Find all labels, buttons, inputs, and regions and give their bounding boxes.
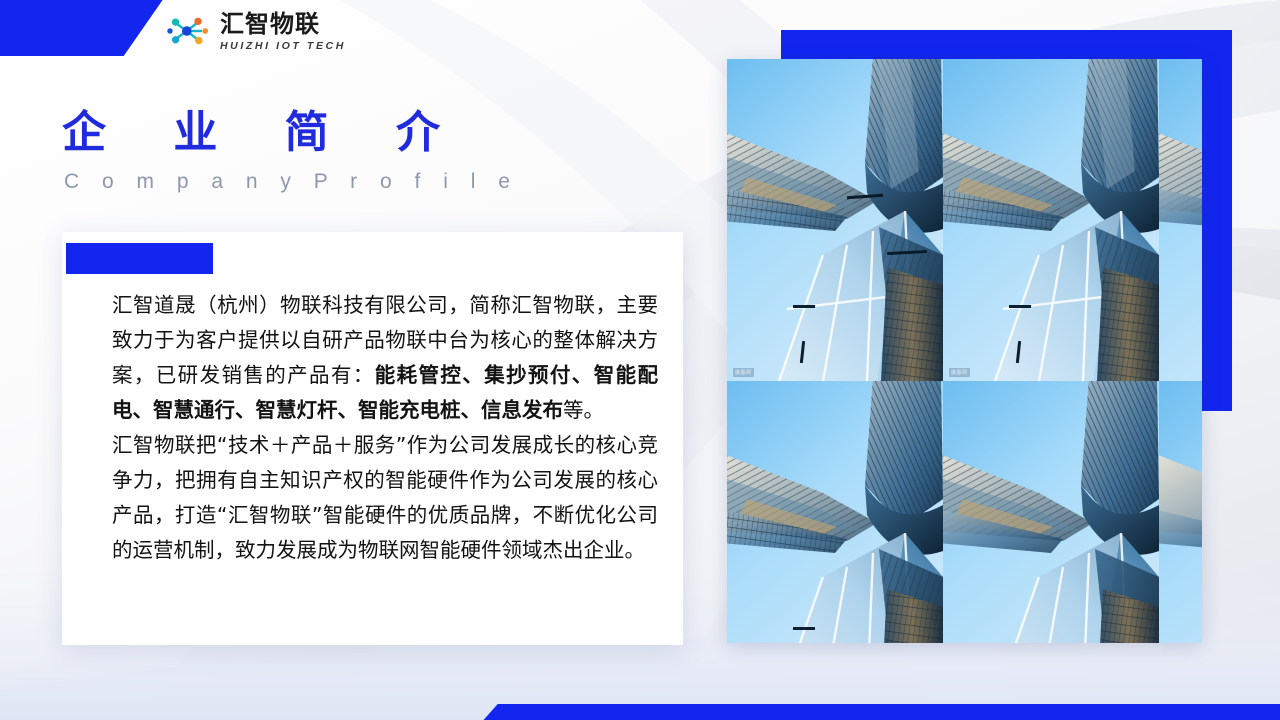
photo-watermark: 摄图网 [949,368,970,377]
slide-canvas: 汇智物联 HUIZHI IOT TECH 企 业 简 介 C o m p a n… [0,0,1280,720]
photo-tile-5 [943,381,1159,643]
paragraph-1-tail: 等。 [563,398,604,422]
profile-card-body: 汇智道晟（杭州）物联科技有限公司，简称汇智物联，主要致力于为客户提供以自研产品物… [112,288,658,568]
skyscraper-photo-icon [1159,381,1202,643]
card-accent-bar [66,243,213,274]
skyscraper-photo-grid: 摄图网 [727,59,1202,643]
skyscraper-photo-icon [727,381,943,643]
photo-tile-1: 摄图网 [727,59,943,381]
skyscraper-photo-icon [943,381,1159,643]
page-subtitle: C o m p a n y P r o f i l e [64,170,518,194]
company-logo: 汇智物联 HUIZHI IOT TECH [166,10,346,52]
photo-tile-2: 摄图网 [943,59,1159,381]
logo-name-en: HUIZHI IOT TECH [220,41,346,52]
photo-tile-3 [1159,59,1202,381]
logo-name-cn: 汇智物联 [220,12,346,36]
bottom-blue-shape [480,704,1280,720]
skyscraper-photo-icon [1159,59,1202,381]
photo-tile-6 [1159,381,1202,643]
profile-paragraph-2: 汇智物联把“技术＋产品＋服务”作为公司发展成长的核心竞争力，把拥有自主知识产权的… [112,428,658,568]
photo-watermark: 摄图网 [733,368,754,377]
photo-tile-4 [727,381,943,643]
profile-paragraph-1: 汇智道晟（杭州）物联科技有限公司，简称汇智物联，主要致力于为客户提供以自研产品物… [112,288,658,428]
page-title: 企 业 简 介 [62,96,466,160]
skyscraper-photo-icon [727,59,943,381]
skyscraper-photo-icon [943,59,1159,381]
huizhi-molecule-logo-icon [166,11,214,51]
